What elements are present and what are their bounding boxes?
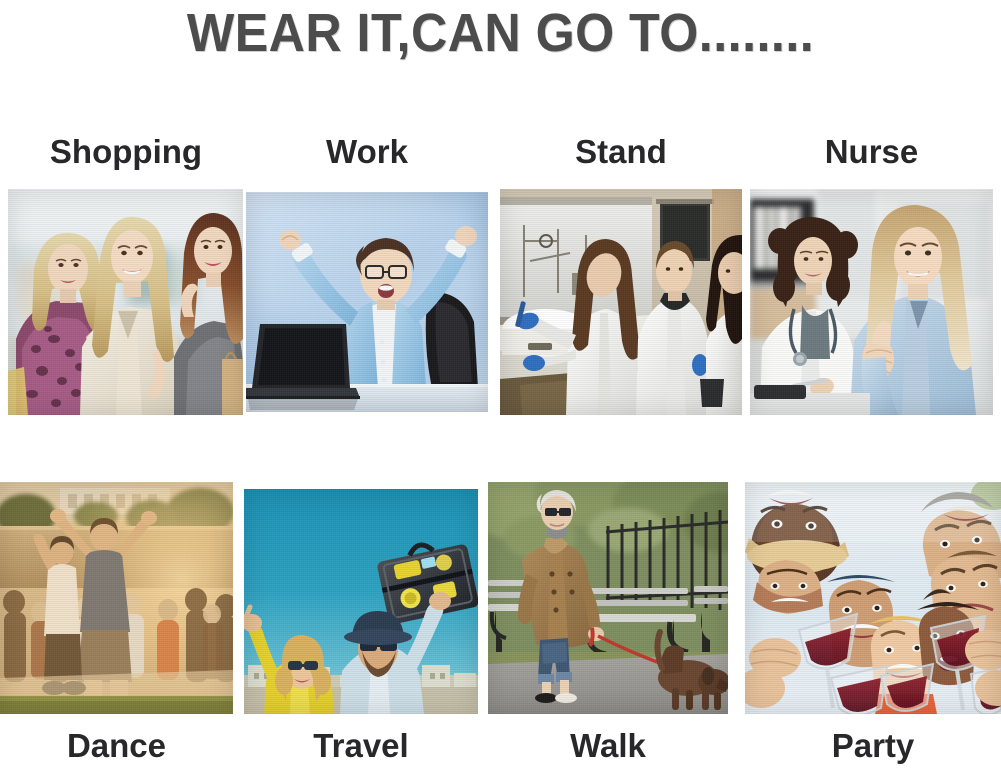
poster-root: WEAR IT,CAN GO TO........ Shopping Work …	[0, 0, 1001, 777]
cell-label-party: Party	[745, 727, 1001, 765]
cell-label-travel: Travel	[244, 727, 478, 765]
scene-walk	[488, 482, 728, 714]
photo-cell-party	[745, 482, 1001, 714]
photo-cell-travel	[244, 489, 478, 714]
scene-nurse	[750, 189, 993, 415]
scene-work	[246, 192, 488, 412]
scene-stand	[500, 189, 742, 415]
cell-label-dance: Dance	[0, 727, 233, 765]
photo-cell-nurse	[750, 189, 993, 415]
photo-cell-work	[246, 192, 488, 412]
cell-label-stand: Stand	[500, 133, 742, 171]
cell-label-walk: Walk	[488, 727, 728, 765]
cell-label-work: Work	[246, 133, 488, 171]
page-title: WEAR IT,CAN GO TO........	[35, 2, 966, 64]
scene-dance	[0, 482, 233, 714]
scene-shopping	[8, 189, 243, 415]
photo-cell-shopping	[8, 189, 243, 415]
photo-cell-stand	[500, 189, 742, 415]
cell-label-nurse: Nurse	[750, 133, 993, 171]
scene-party	[745, 482, 1001, 714]
photo-cell-walk	[488, 482, 728, 714]
scene-travel	[244, 489, 478, 714]
photo-cell-dance	[0, 482, 233, 714]
cell-label-shopping: Shopping	[8, 133, 244, 171]
